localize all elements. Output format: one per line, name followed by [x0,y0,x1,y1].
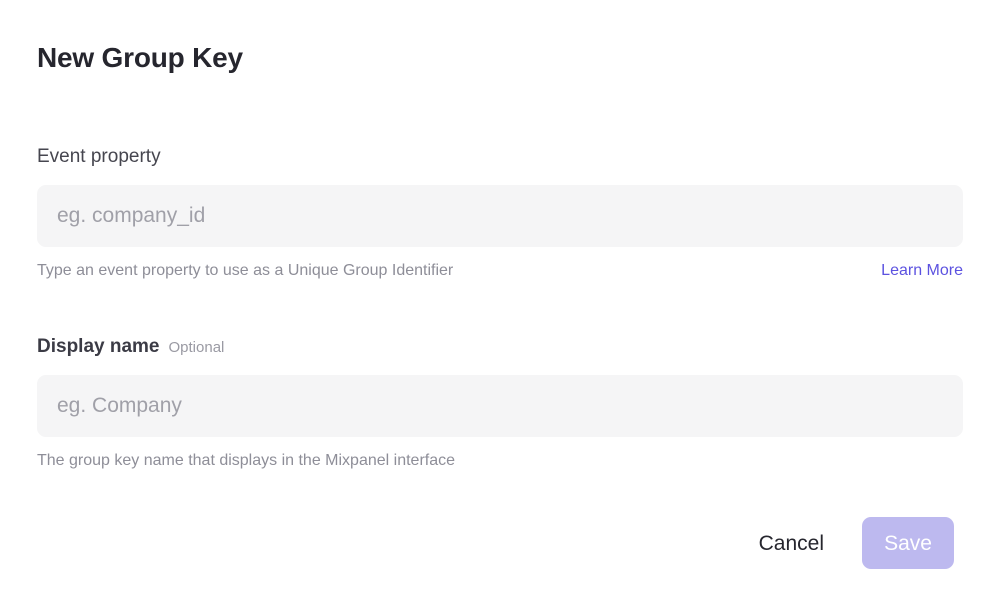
display-name-label: Display name Optional [37,336,963,359]
learn-more-link[interactable]: Learn More [881,261,963,280]
event-property-label: Event property [37,146,963,169]
event-property-label-text: Event property [37,146,161,169]
display-name-optional-badge: Optional [169,339,225,357]
display-name-footer: The group key name that displays in the … [37,451,963,470]
event-property-field-group: Event property Type an event property to… [37,146,963,280]
new-group-key-dialog: New Group Key Event property Type an eve… [0,0,1000,608]
display-name-field-group: Display name Optional The group key name… [37,336,963,470]
cancel-button[interactable]: Cancel [759,533,824,554]
display-name-label-text: Display name [37,336,160,359]
display-name-helper-text: The group key name that displays in the … [37,451,455,470]
save-button[interactable]: Save [862,517,954,569]
dialog-actions: Cancel Save [759,517,954,569]
event-property-helper-text: Type an event property to use as a Uniqu… [37,261,453,280]
display-name-input[interactable] [37,375,963,437]
event-property-footer: Type an event property to use as a Uniqu… [37,261,963,280]
event-property-input[interactable] [37,185,963,247]
page-title: New Group Key [37,41,243,75]
